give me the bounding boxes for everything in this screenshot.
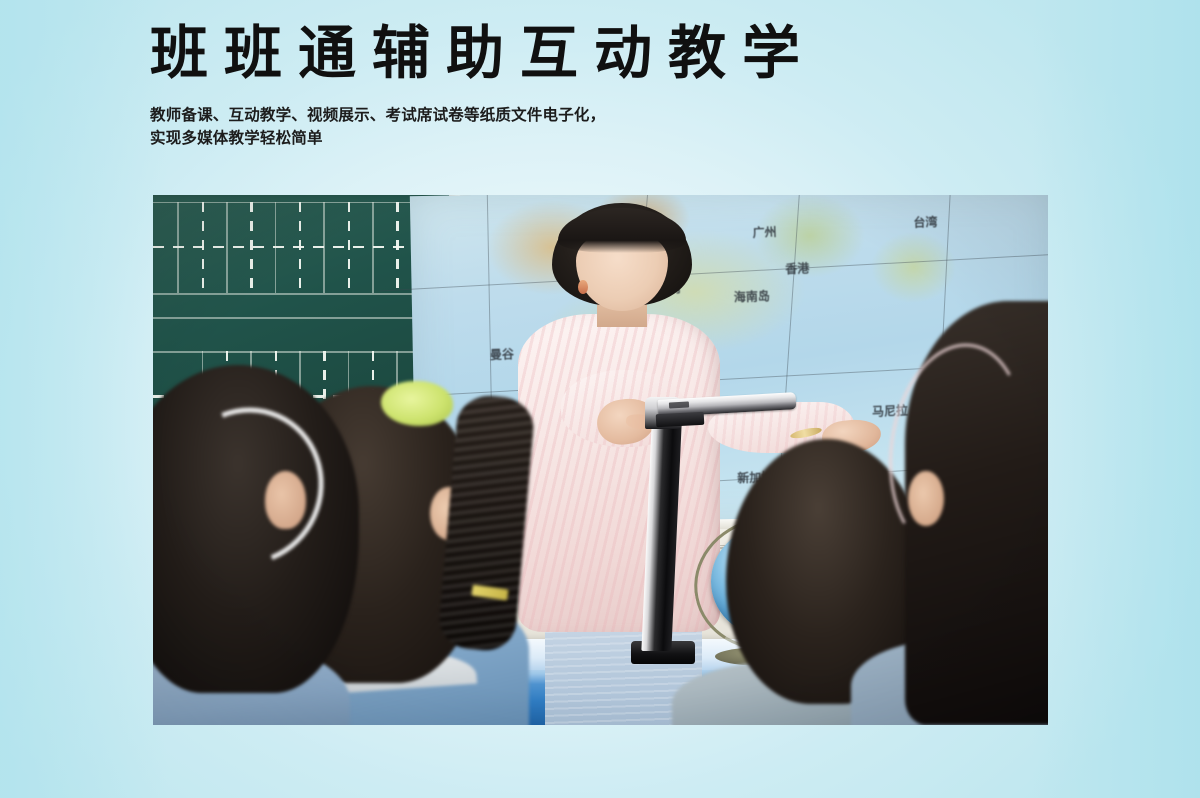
map-label: 海南岛 bbox=[733, 286, 770, 304]
map-label: 台湾 bbox=[912, 213, 937, 231]
student-2-hair-bow bbox=[381, 381, 453, 427]
promo-banner: 班班通辅助互动教学 教师备课、互动教学、视频展示、考试席试卷等纸质文件电子化， … bbox=[0, 0, 1200, 798]
header-text-block: 班班通辅助互动教学 教师备课、互动教学、视频展示、考试席试卷等纸质文件电子化， … bbox=[150, 22, 816, 150]
map-label: 香港 bbox=[784, 259, 809, 277]
map-label: 广州 bbox=[751, 222, 776, 240]
page-title: 班班通辅助互动教学 bbox=[150, 22, 816, 84]
document-camera-lens-head bbox=[656, 412, 705, 427]
document-camera-logo bbox=[668, 401, 688, 408]
teacher-earring bbox=[578, 280, 588, 294]
page-subtitle: 教师备课、互动教学、视频展示、考试席试卷等纸质文件电子化， 实现多媒体教学轻松简… bbox=[150, 104, 816, 150]
classroom-photo: 河内 海南岛 香港 广州 曼谷 金边 马尼拉 吉隆坡 新加坡 雅加达 台湾 bbox=[153, 195, 1048, 725]
subtitle-line-1: 教师备课、互动教学、视频展示、考试席试卷等纸质文件电子化， bbox=[150, 104, 816, 127]
teacher-shirt bbox=[518, 314, 719, 632]
map-label: 曼谷 bbox=[489, 345, 514, 363]
subtitle-line-2: 实现多媒体教学轻松简单 bbox=[150, 127, 816, 150]
